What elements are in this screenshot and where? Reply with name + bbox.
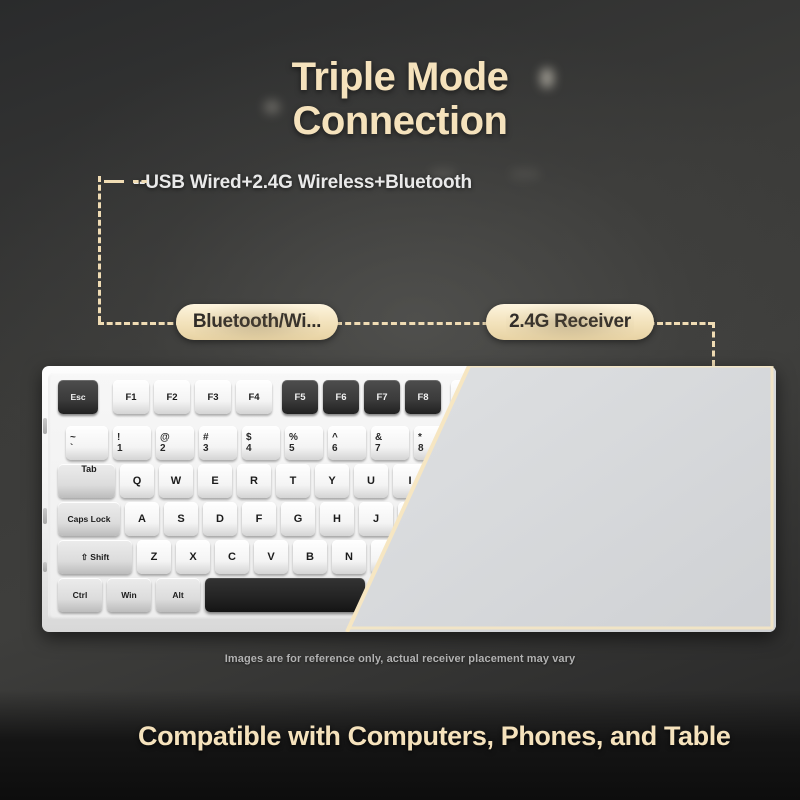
keycap-e[interactable]: E [198, 464, 232, 498]
keycap-g[interactable]: G [281, 502, 315, 536]
keycap-b[interactable]: B [293, 540, 327, 574]
side-indicator-nub [43, 508, 47, 524]
keycap-legend: G [294, 513, 303, 525]
keycap-f[interactable]: F [242, 502, 276, 536]
callout-bluetooth-wireless: Bluetooth/Wi... [176, 304, 338, 340]
keycap-legend-top: $ [246, 432, 252, 443]
connector-tick-left [104, 180, 124, 183]
product-marketing-image: Triple Mode Connection --USB Wired+2.4G … [0, 0, 800, 800]
keycap-legend-top: * [418, 432, 422, 443]
callout-receiver: 2.4G Receiver [486, 304, 654, 340]
keycap-4[interactable]: $4 [242, 426, 280, 460]
keycap-d[interactable]: D [203, 502, 237, 536]
keycap-legend: Q [133, 475, 142, 487]
keycap-legend: Win [121, 590, 137, 600]
keycap-legend: Caps Lock [68, 514, 111, 524]
disclaimer-text: Images are for reference only, actual re… [0, 653, 800, 665]
keycap-legend-bottom: 8 [418, 443, 424, 454]
keycap-alt[interactable]: Alt [156, 578, 200, 612]
callout-receiver-label: 2.4G Receiver [509, 311, 631, 333]
keycap-legend: W [171, 475, 181, 487]
keycap-legend: F [256, 513, 263, 525]
page-title-line2: Connection [0, 100, 800, 143]
connector-tick-subtitle [133, 180, 147, 183]
keycap-ctrl[interactable]: Ctrl [58, 578, 102, 612]
keycap-legend: F1 [125, 392, 136, 403]
keycap-legend: Esc [70, 392, 85, 402]
keycap-legend: Alt [172, 590, 183, 600]
keycap-legend-top: & [375, 432, 382, 443]
keycap-esc[interactable]: Esc [58, 380, 98, 414]
keycap-j[interactable]: J [359, 502, 393, 536]
keycap-x[interactable]: X [176, 540, 210, 574]
connector-line-vertical-right [712, 322, 715, 366]
keycap-legend: F8 [417, 392, 428, 403]
keycap-legend-bottom: 2 [160, 443, 166, 454]
keycap-s[interactable]: S [164, 502, 198, 536]
bokeh-artifact [510, 168, 540, 180]
keycap-legend: U [367, 475, 375, 487]
keycap-legend: F2 [166, 392, 177, 403]
keycap-t[interactable]: T [276, 464, 310, 498]
keycap-legend: N [345, 551, 353, 563]
keycap-legend-top: ! [117, 432, 120, 443]
keycap-r[interactable]: R [237, 464, 271, 498]
keyboard-row-shift-row: ⇧ ShiftZXCVBNM [58, 540, 410, 574]
keycap-f4[interactable]: F4 [236, 380, 272, 414]
side-indicator-nub [43, 562, 47, 572]
keycap-legend: S [177, 513, 184, 525]
keycap-legend: F6 [335, 392, 346, 403]
keycap-legend-top: ^ [332, 432, 338, 443]
keycap-f5[interactable]: F5 [282, 380, 318, 414]
keycap-legend-bottom: 1 [117, 443, 123, 454]
keycap-v[interactable]: V [254, 540, 288, 574]
keycap-legend-bottom: 7 [375, 443, 381, 454]
keycap-legend-bottom: ` [70, 443, 73, 454]
side-indicator-nub [43, 418, 47, 434]
keycap-legend: Z [151, 551, 158, 563]
keycap-legend: T [290, 475, 297, 487]
keycap-blank[interactable]: ~` [66, 426, 108, 460]
keycap-caps-lock[interactable]: Caps Lock [58, 502, 120, 536]
subtitle-text: --USB Wired+2.4G Wireless+Bluetooth [133, 172, 472, 194]
keycap-w[interactable]: W [159, 464, 193, 498]
keycap-u[interactable]: U [354, 464, 388, 498]
keycap-legend-top: % [289, 432, 298, 443]
keycap-legend: I [408, 475, 411, 487]
keycap-z[interactable]: Z [137, 540, 171, 574]
keycap-legend: Ctrl [73, 590, 88, 600]
keycap-legend: H [333, 513, 341, 525]
keycap-legend-bottom: 5 [289, 443, 295, 454]
keycap-3[interactable]: #3 [199, 426, 237, 460]
keycap-5[interactable]: %5 [285, 426, 323, 460]
keycap-f8[interactable]: F8 [405, 380, 441, 414]
keycap-legend: Y [328, 475, 335, 487]
keycap-7[interactable]: &7 [371, 426, 409, 460]
keycap-legend-bottom: 6 [332, 443, 338, 454]
keycap-legend-top: @ [160, 432, 170, 443]
keycap-win[interactable]: Win [107, 578, 151, 612]
keycap-legend: F3 [207, 392, 218, 403]
keycap-a[interactable]: A [125, 502, 159, 536]
keycap-6[interactable]: ^6 [328, 426, 366, 460]
keycap-legend: R [250, 475, 258, 487]
keycap-legend-top: ~ [70, 432, 76, 443]
keycap-gap [103, 380, 113, 414]
keycap-legend: J [373, 513, 379, 525]
keycap-f1[interactable]: F1 [113, 380, 149, 414]
keycap-legend: V [267, 551, 274, 563]
keyboard-product-photo: EscF1F2F3F4F5F6F7F8F9F10F11F12~`!1@2#3$4… [42, 366, 776, 632]
keycap-legend: ⇧ Shift [81, 552, 109, 563]
keycap-legend: C [228, 551, 236, 563]
connector-line-vertical-left [98, 176, 101, 322]
keycap-q[interactable]: Q [120, 464, 154, 498]
keycap-f7[interactable]: F7 [364, 380, 400, 414]
keycap-space[interactable] [205, 578, 365, 612]
keycap-1[interactable]: !1 [113, 426, 151, 460]
keyboard-row-bottom-row: CtrlWinAlt [58, 578, 370, 612]
keycap-legend: F7 [376, 392, 387, 403]
keycap-tab[interactable]: Tab [58, 464, 115, 498]
keycap-h[interactable]: H [320, 502, 354, 536]
keycap-y[interactable]: Y [315, 464, 349, 498]
keycap-legend: A [138, 513, 146, 525]
keycap-legend-bottom: 4 [246, 443, 252, 454]
bottom-banner-text: Compatible with Computers, Phones, and T… [138, 721, 730, 752]
page-title-line1: Triple Mode [0, 56, 800, 99]
callout-bluetooth-label: Bluetooth/Wi... [193, 311, 321, 333]
keycap-shift[interactable]: ⇧ Shift [58, 540, 132, 574]
keycap-legend: B [306, 551, 314, 563]
keycap-legend-bottom: 3 [203, 443, 209, 454]
keycap-legend: D [216, 513, 224, 525]
keycap-f3[interactable]: F3 [195, 380, 231, 414]
keycap-legend: Tab [81, 464, 96, 474]
keycap-f2[interactable]: F2 [154, 380, 190, 414]
keycap-legend: X [189, 551, 196, 563]
keycap-legend: E [211, 475, 218, 487]
keycap-n[interactable]: N [332, 540, 366, 574]
keycap-legend: F4 [248, 392, 259, 403]
keycap-2[interactable]: @2 [156, 426, 194, 460]
keycap-legend: F5 [294, 392, 305, 403]
keycap-f6[interactable]: F6 [323, 380, 359, 414]
keycap-legend-top: # [203, 432, 209, 443]
keycap-c[interactable]: C [215, 540, 249, 574]
